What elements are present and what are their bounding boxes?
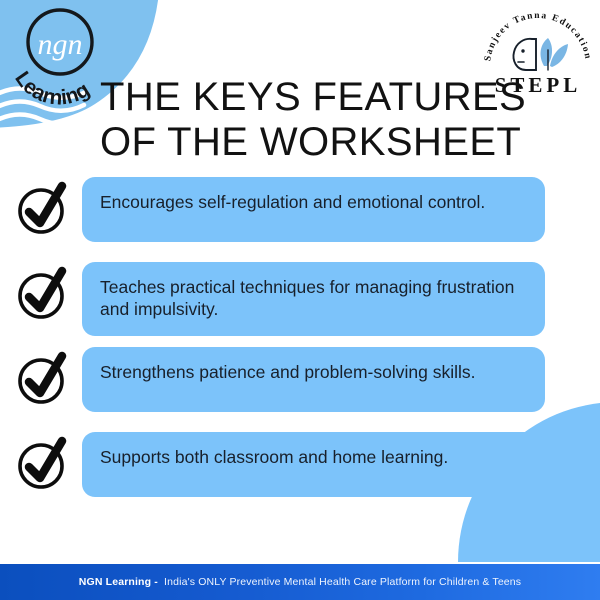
list-item: Teaches practical techniques for managin… <box>0 262 600 347</box>
list-item: Encourages self-regulation and emotional… <box>0 177 600 262</box>
feature-text: Teaches practical techniques for managin… <box>100 276 527 320</box>
feature-pill: Supports both classroom and home learnin… <box>82 432 545 497</box>
footer-brand: NGN Learning - <box>79 576 158 588</box>
page-title: THE KEYS FEATURES OF THE WORKSHEET <box>100 75 530 165</box>
check-circle-icon <box>16 436 68 490</box>
check-circle-icon <box>16 351 68 405</box>
list-item: Strengthens patience and problem-solving… <box>0 347 600 432</box>
feature-pill: Strengthens patience and problem-solving… <box>82 347 545 412</box>
page-title-line-2: OF THE WORKSHEET <box>100 120 530 165</box>
poster-canvas: ngn Learning Sanjeev Tanna Education <box>0 0 600 600</box>
feature-text: Supports both classroom and home learnin… <box>100 446 527 468</box>
page-title-line-1: THE KEYS FEATURES <box>100 75 530 120</box>
check-circle-icon <box>16 266 68 320</box>
features-list: Encourages self-regulation and emotional… <box>0 177 600 517</box>
head-with-leaves-icon <box>514 38 569 70</box>
feature-pill: Encourages self-regulation and emotional… <box>82 177 545 242</box>
stepl-logo-graphic: Sanjeev Tanna Education <box>482 4 594 80</box>
footer-tagline: India's ONLY Preventive Mental Health Ca… <box>164 576 521 588</box>
feature-text: Encourages self-regulation and emotional… <box>100 191 527 213</box>
ngn-mark-text: ngn <box>38 28 83 61</box>
list-item: Supports both classroom and home learnin… <box>0 432 600 517</box>
footer-bar: NGN Learning - India's ONLY Preventive M… <box>0 564 600 600</box>
feature-pill: Teaches practical techniques for managin… <box>82 262 545 336</box>
feature-text: Strengthens patience and problem-solving… <box>100 361 527 383</box>
check-circle-icon <box>16 181 68 235</box>
footer-text: NGN Learning - India's ONLY Preventive M… <box>79 576 521 588</box>
stepl-curved-text: Sanjeev Tanna Education <box>483 11 592 62</box>
